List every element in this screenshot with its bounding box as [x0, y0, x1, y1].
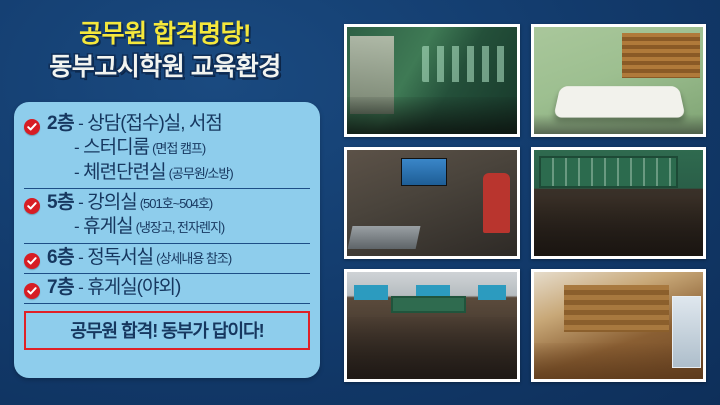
facility-name: 체련단련실: [83, 161, 165, 185]
facility-row-floor-6: 6층 - 정독서실 (상세내용 참조): [24, 244, 310, 274]
facility-row-floor-7: 7층 - 휴게실(야외): [24, 274, 310, 304]
title-line-2: 동부고시학원 교육환경: [0, 52, 330, 82]
facility-row-floor-5: 5층 - 강의실 (501호~504호) - 휴게실 (냉장고, 전자렌지): [24, 189, 310, 244]
facility-list-panel: 2층 - 상담(접수)실, 서점 - 스터디룸 (면접 캠프) - 체련단련실 …: [14, 102, 320, 378]
list-item: 5층 - 강의실 (501호~504호): [24, 191, 310, 215]
slogan-text: 공무원 합격! 동부가 답이다!: [70, 321, 263, 341]
photo-lecture-hall-chalkboard: [531, 147, 707, 260]
facility-detail: (면접 캠프): [152, 141, 205, 158]
facility-name: 휴게실(야외): [87, 276, 180, 300]
check-icon: [24, 253, 40, 269]
dash: -: [78, 277, 83, 299]
list-item: 6층 - 정독서실 (상세내용 참조): [24, 246, 310, 270]
facility-detail: (501호~504호): [140, 196, 213, 213]
dash: -: [78, 192, 83, 214]
facility-detail: (냉장고, 전자렌지): [136, 220, 225, 237]
photo-gym: [344, 147, 520, 260]
floor-label: 5층: [47, 191, 74, 215]
facility-name: 강의실: [87, 191, 136, 215]
photo-large-lecture-hall: [344, 269, 520, 382]
list-item: - 체련단련실 (공무원/소방): [24, 161, 310, 185]
title-line-1: 공무원 합격명당!: [0, 20, 330, 49]
list-item: 7층 - 휴게실(야외): [24, 276, 310, 300]
facility-name: 상담(접수)실, 서점: [87, 112, 222, 136]
left-column: 공무원 합격명당! 동부고시학원 교육환경 2층 - 상담(접수)실, 서점 -…: [0, 0, 330, 405]
dash: -: [74, 162, 79, 184]
floor-label: 2층: [47, 112, 74, 136]
photo-reception-office: [344, 24, 520, 137]
check-icon: [24, 198, 40, 214]
dash: -: [78, 113, 83, 135]
facility-detail: (상세내용 참조): [156, 251, 231, 268]
photo-study-room: [531, 24, 707, 137]
dash: -: [78, 247, 83, 269]
photo-lounge: [531, 269, 707, 382]
floor-label: 7층: [47, 276, 74, 300]
facility-name: 정독서실: [87, 246, 153, 270]
list-item: - 휴게실 (냉장고, 전자렌지): [24, 215, 310, 239]
photo-grid: [344, 24, 706, 382]
floor-label: 6층: [47, 246, 74, 270]
check-icon: [24, 119, 40, 135]
list-item: 2층 - 상담(접수)실, 서점: [24, 112, 310, 136]
facility-row-floor-2: 2층 - 상담(접수)실, 서점 - 스터디룸 (면접 캠프) - 체련단련실 …: [24, 110, 310, 189]
dash: -: [74, 137, 79, 159]
dash: -: [74, 216, 79, 238]
slogan-box: 공무원 합격! 동부가 답이다!: [24, 311, 310, 350]
facility-name: 휴게실: [83, 215, 132, 239]
facility-name: 스터디룸: [83, 136, 149, 160]
title-block: 공무원 합격명당! 동부고시학원 교육환경: [0, 20, 330, 82]
list-item: - 스터디룸 (면접 캠프): [24, 136, 310, 160]
facility-rows: 2층 - 상담(접수)실, 서점 - 스터디룸 (면접 캠프) - 체련단련실 …: [24, 110, 310, 350]
facility-detail: (공무원/소방): [169, 166, 233, 183]
check-icon: [24, 283, 40, 299]
